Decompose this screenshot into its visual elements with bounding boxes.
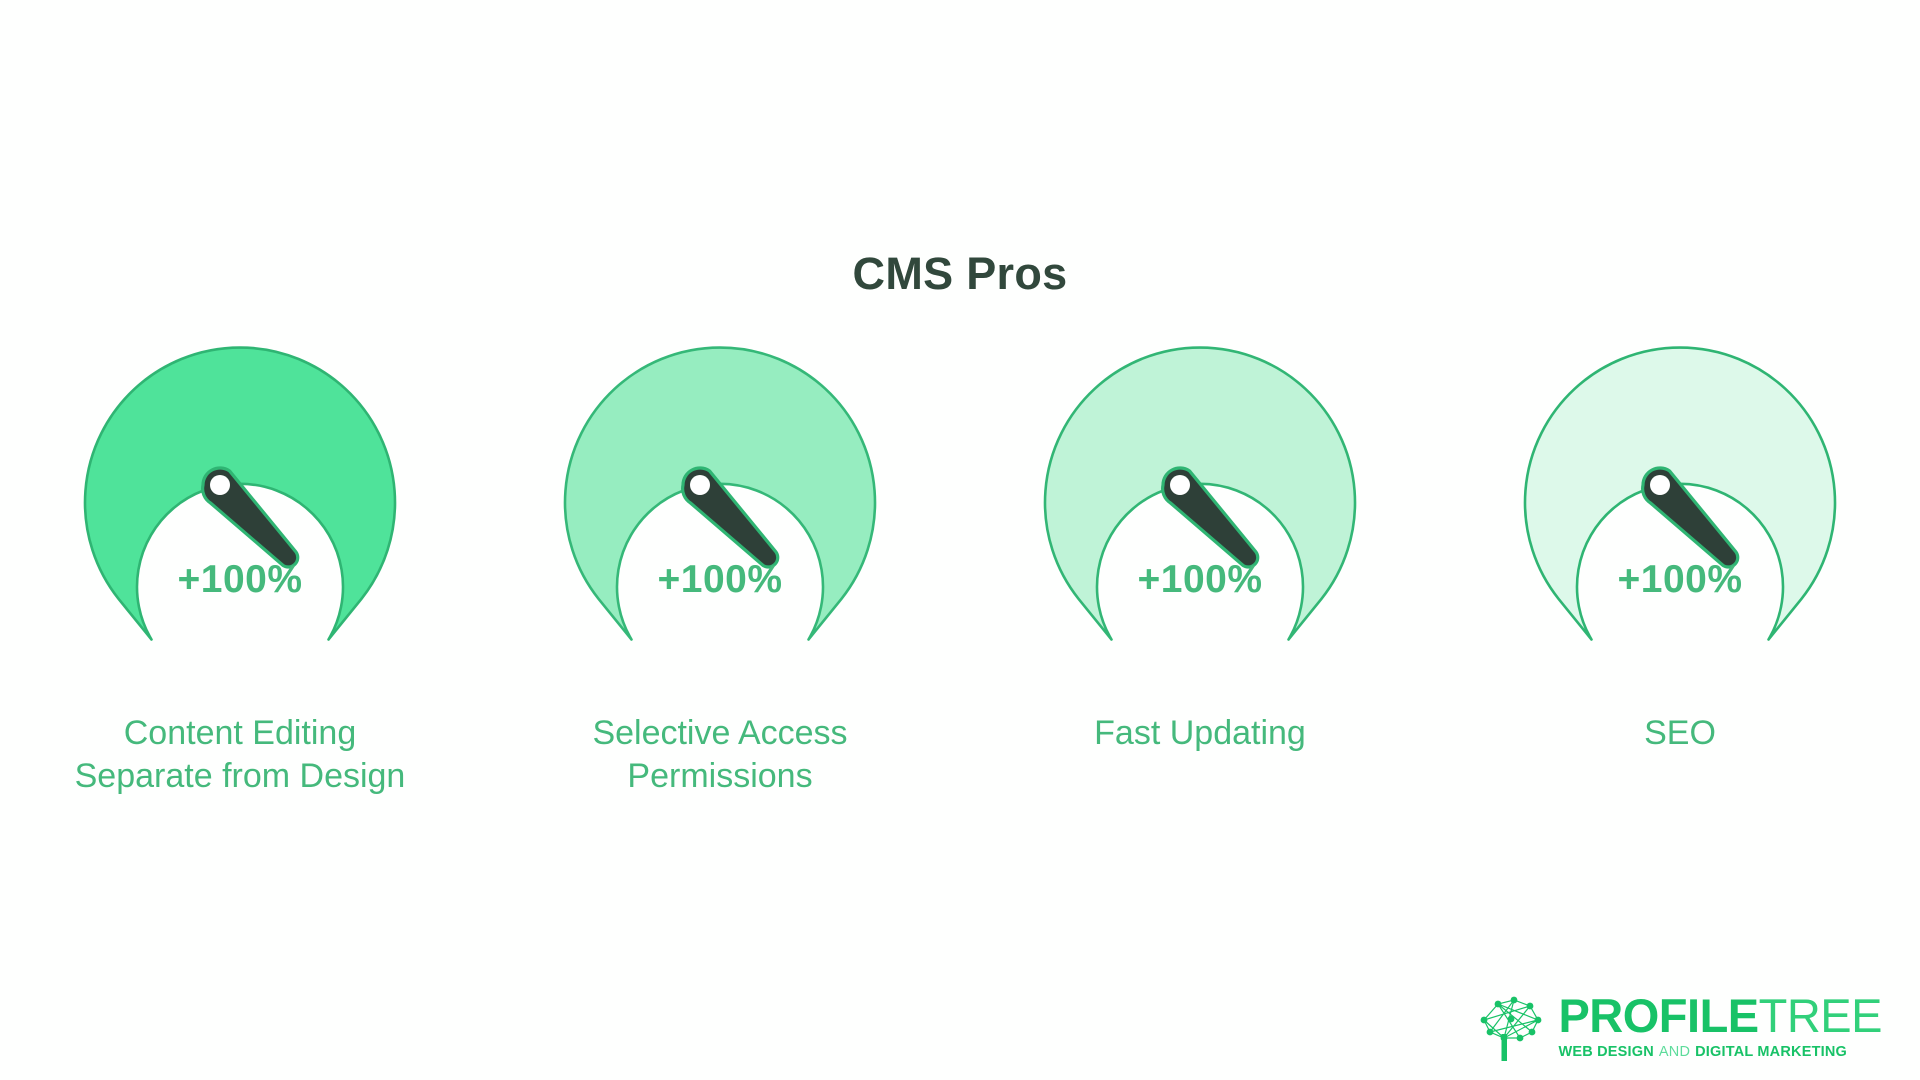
needle-hub: [1650, 475, 1670, 495]
needle-hub: [1170, 475, 1190, 495]
gauge-4-label: SEO: [1465, 712, 1895, 755]
gauge-1-svg: [60, 340, 420, 670]
slide-canvas: CMS Pros +100% Content Editing Separate …: [0, 0, 1920, 1080]
logo-text: PROFILETREE WEB DESIGN AND DIGITAL MARKE…: [1558, 992, 1882, 1060]
needle-hub: [210, 475, 230, 495]
gauge-2-value: +100%: [540, 558, 900, 602]
gauge-2-svg: [540, 340, 900, 670]
gauge-row: +100% Content Editing Separate from Desi…: [0, 340, 1920, 798]
gauge-card-3: +100% Fast Updating: [960, 340, 1440, 755]
gauge-3-label: Fast Updating: [985, 712, 1415, 755]
logo-tree-text: TREE: [1759, 992, 1882, 1039]
gauge-2-label: Selective Access Permissions: [505, 712, 935, 798]
gauge-4: +100%: [1500, 340, 1860, 670]
gauge-4-value: +100%: [1500, 558, 1860, 602]
tagline-part-3: DIGITAL MARKETING: [1695, 1044, 1847, 1060]
logo-profile-text: PROFILE: [1558, 992, 1758, 1039]
gauge-card-2: +100% Selective Access Permissions: [480, 340, 960, 798]
gauge-1-value: +100%: [60, 558, 420, 602]
needle-hub: [690, 475, 710, 495]
gauge-1: +100%: [60, 340, 420, 670]
profiletree-logo: PROFILETREE WEB DESIGN AND DIGITAL MARKE…: [1474, 990, 1882, 1062]
logo-tagline: WEB DESIGN AND DIGITAL MARKETING: [1558, 1044, 1882, 1060]
gauge-2: +100%: [540, 340, 900, 670]
page-title: CMS Pros: [0, 248, 1920, 300]
gauge-card-1: +100% Content Editing Separate from Desi…: [0, 340, 480, 798]
gauge-3: +100%: [1020, 340, 1380, 670]
logo-wordmark: PROFILETREE: [1558, 992, 1882, 1039]
gauge-1-label: Content Editing Separate from Design: [25, 712, 455, 798]
gauge-3-svg: [1020, 340, 1380, 670]
tagline-part-1: WEB DESIGN: [1558, 1044, 1653, 1060]
tree-network-icon: [1474, 990, 1548, 1062]
gauge-4-svg: [1500, 340, 1860, 670]
gauge-card-4: +100% SEO: [1440, 340, 1920, 755]
gauge-3-value: +100%: [1020, 558, 1380, 602]
tagline-part-2: AND: [1659, 1044, 1690, 1060]
